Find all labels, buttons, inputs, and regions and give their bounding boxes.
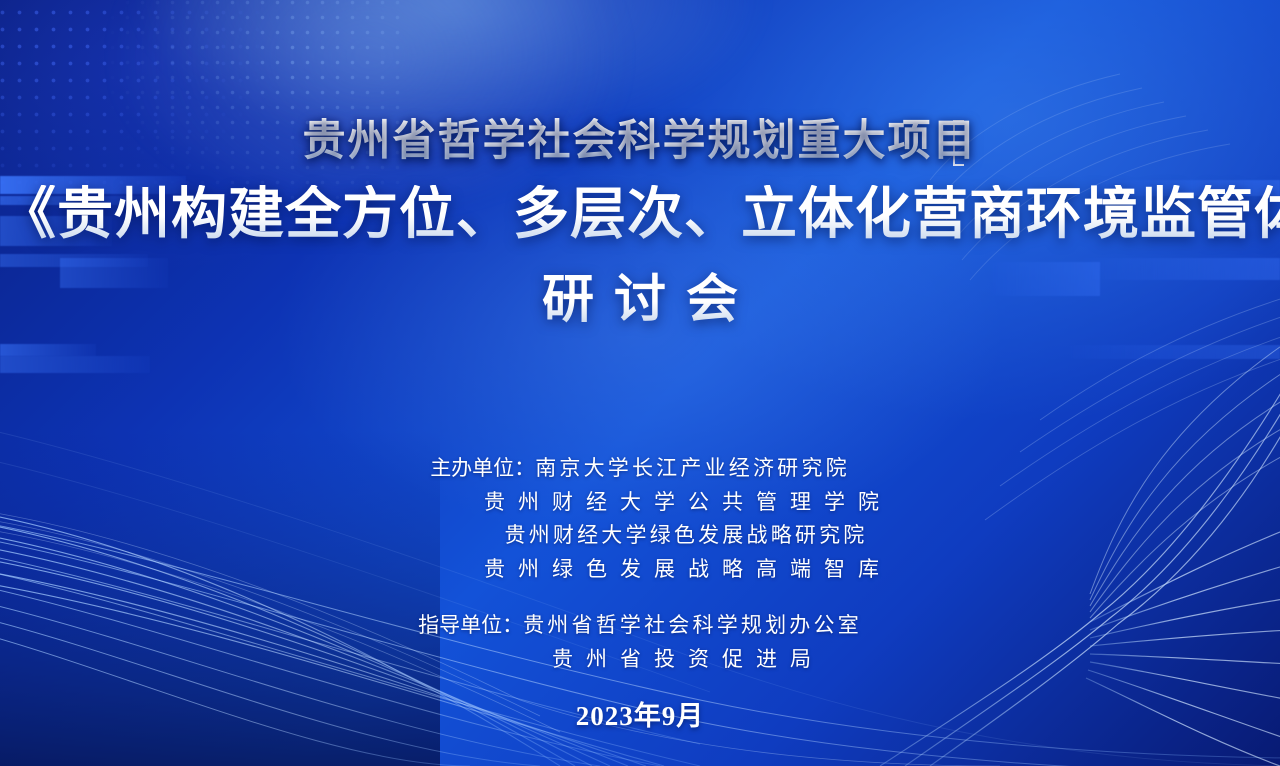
credits-spacer [0,586,1280,609]
host-unit-4: 贵州绿色发展战略高端智库 [484,558,892,581]
host-line-4: 贵州绿色发展战略高端智库 [0,553,1280,587]
advisor-unit-1: 贵州省哲学社会科学规划办公室 [523,614,862,637]
poster-canvas: 贵州省哲学社会科学规划重大项目 《贵州构建全方位、多层次、立体化营商环境监管体系… [0,0,1280,766]
poster-content: 贵州省哲学社会科学规划重大项目 《贵州构建全方位、多层次、立体化营商环境监管体系… [0,0,1280,766]
host-unit-1: 南京大学长江产业经济研究院 [535,457,850,480]
advisor-label: 指导单位： [418,614,523,637]
poster-main-title: 《贵州构建全方位、多层次、立体化营商环境监管体系研究》 [0,185,1280,247]
host-unit-2: 贵州财经大学公共管理学院 [484,491,892,514]
advisor-unit-2: 贵州省投资促进局 [552,648,824,671]
advisor-line-2: 贵州省投资促进局 [0,643,1280,677]
advisor-line-1: 指导单位：贵州省哲学社会科学规划办公室 [0,609,1280,643]
credits-block: 主办单位：南京大学长江产业经济研究院 贵州财经大学公共管理学院 贵州财经大学绿色… [0,452,1280,676]
poster-kicker: 贵州省哲学社会科学规划重大项目 [0,118,1280,165]
poster-subtitle: 研讨会 [0,272,1280,329]
host-unit-3: 贵州财经大学绿色发展战略研究院 [505,524,868,547]
host-line-1: 主办单位：南京大学长江产业经济研究院 [0,452,1280,486]
poster-date: 2023年9月 [0,694,1280,733]
host-line-2: 贵州财经大学公共管理学院 [0,486,1280,520]
host-line-3: 贵州财经大学绿色发展战略研究院 [0,519,1280,553]
host-label: 主办单位： [430,457,535,480]
